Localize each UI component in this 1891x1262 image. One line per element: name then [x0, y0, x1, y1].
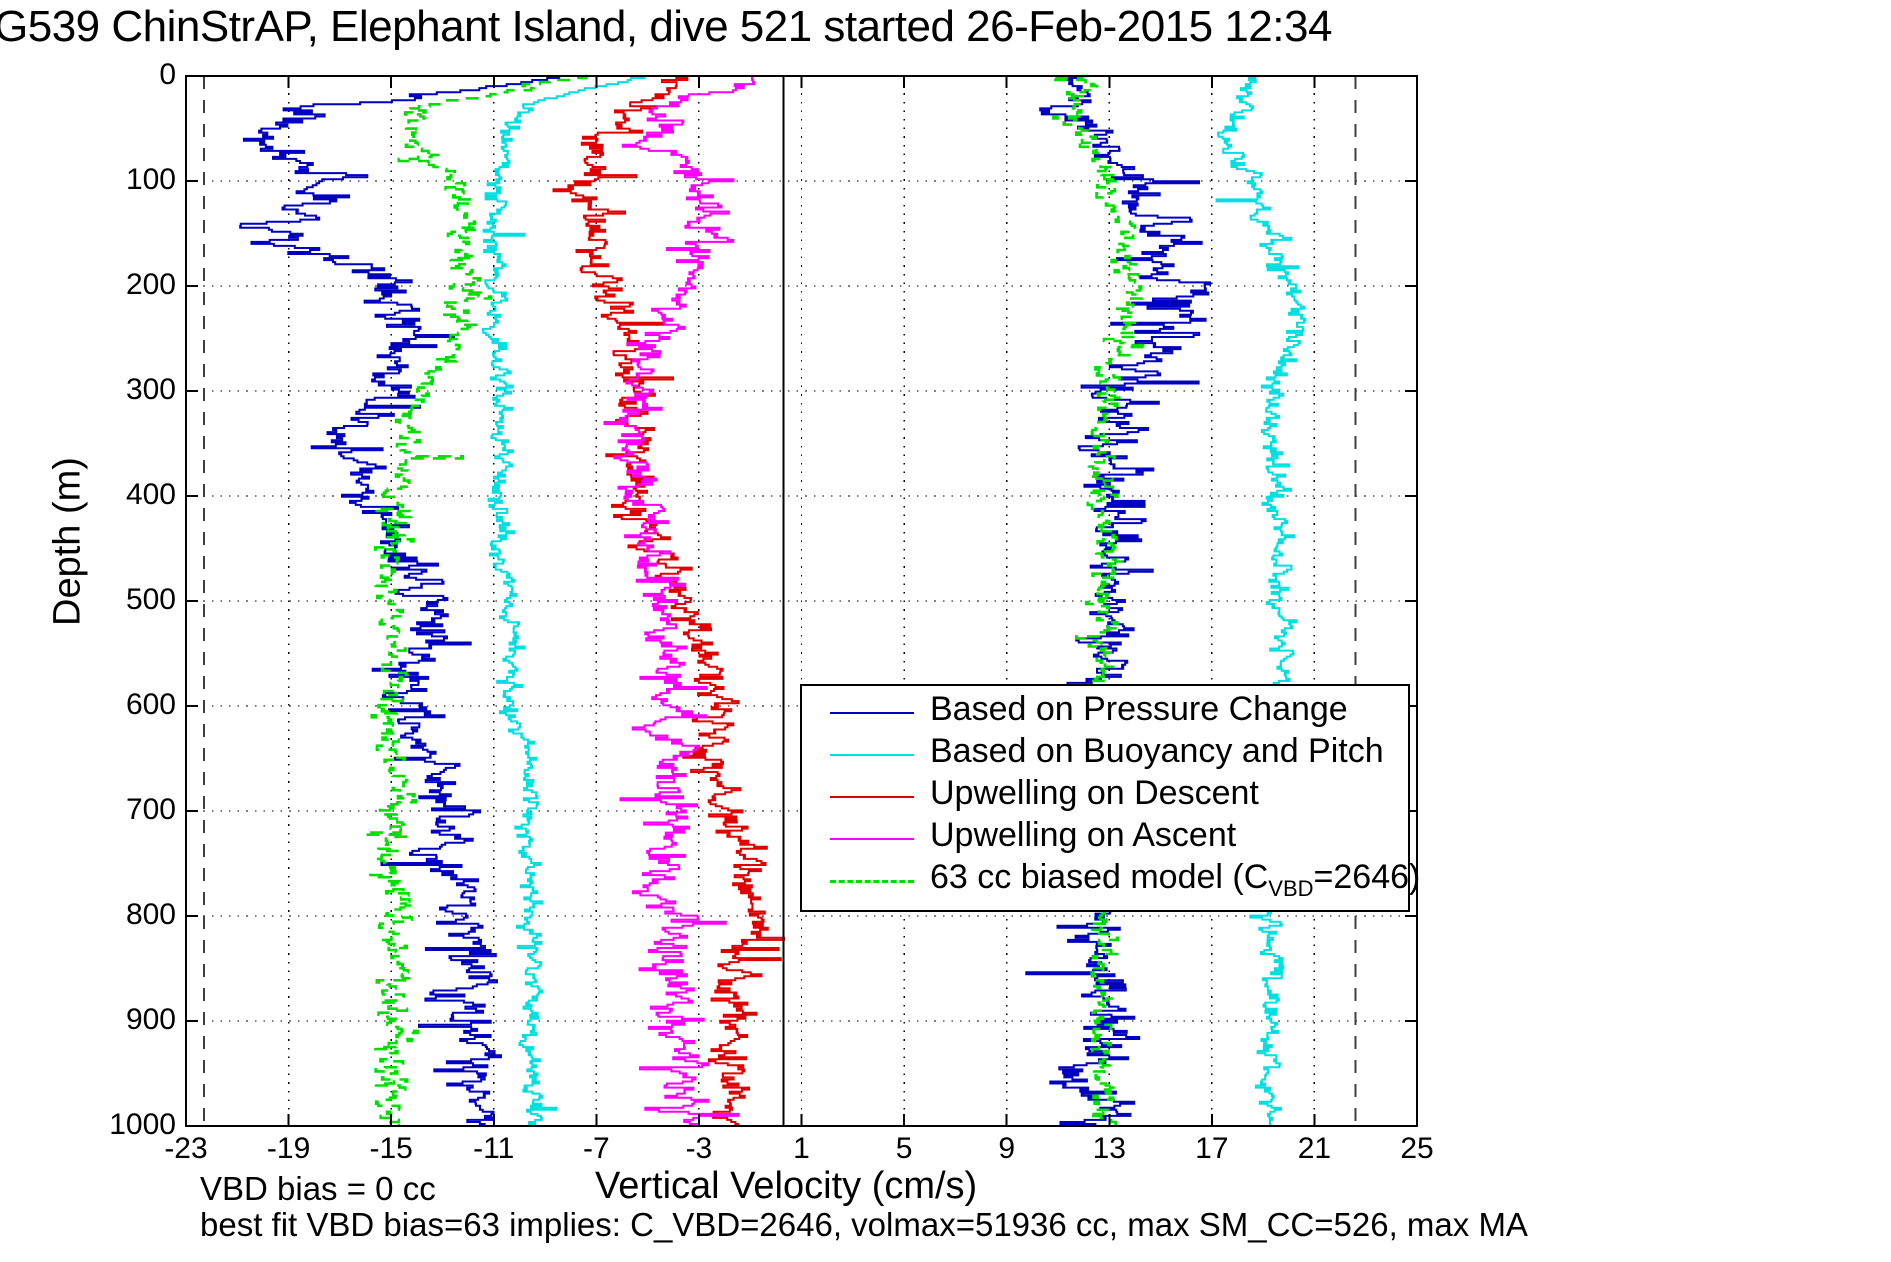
- legend-item-upwelling-ascent[interactable]: Upwelling on Ascent: [802, 818, 1408, 860]
- y-axis-label: Depth (m): [47, 412, 90, 672]
- legend-item-biased-model[interactable]: 63 cc biased model (CVBD=2646): [802, 860, 1408, 902]
- x-axis-tick-label: 25: [1357, 1132, 1477, 1166]
- best-fit-note: best fit VBD bias=63 implies: C_VBD=2646…: [200, 1206, 1528, 1244]
- x-axis-label: Vertical Velocity (cm/s): [595, 1165, 977, 1208]
- vbd-bias-note: VBD bias = 0 cc: [200, 1170, 436, 1208]
- legend-label: 63 cc biased model (CVBD=2646): [930, 858, 1420, 902]
- legend-box: Based on Pressure Change Based on Buoyan…: [800, 684, 1410, 912]
- legend-item-buoyancy[interactable]: Based on Buoyancy and Pitch: [802, 734, 1408, 776]
- legend-label: Upwelling on Descent: [930, 774, 1259, 813]
- legend-swatch-dashed-line: [830, 880, 914, 883]
- legend-item-pressure[interactable]: Based on Pressure Change: [802, 692, 1408, 734]
- legend-swatch-line: [830, 712, 914, 714]
- y-axis-tick-label: 100: [6, 163, 176, 197]
- y-axis-tick-label: 300: [6, 373, 176, 407]
- legend-label: Upwelling on Ascent: [930, 816, 1236, 855]
- plot-svg: [0, 0, 1891, 1262]
- y-axis-tick-label: 0: [6, 58, 176, 92]
- figure-root: G539 ChinStrAP, Elephant Island, dive 52…: [0, 0, 1891, 1262]
- legend-swatch-line: [830, 838, 914, 840]
- y-axis-tick-label: 500: [6, 583, 176, 617]
- legend-swatch-line: [830, 796, 914, 798]
- legend-item-upwelling-descent[interactable]: Upwelling on Descent: [802, 776, 1408, 818]
- legend-label: Based on Pressure Change: [930, 690, 1348, 729]
- y-axis-tick-label: 600: [6, 688, 176, 722]
- legend-swatch-line: [830, 754, 914, 756]
- y-axis-tick-label: 400: [6, 478, 176, 512]
- legend-label: Based on Buoyancy and Pitch: [930, 732, 1384, 771]
- legend-label-part1: 63 cc biased model (C: [930, 858, 1268, 896]
- y-axis-tick-label: 200: [6, 268, 176, 302]
- legend-label-subscript: VBD: [1268, 876, 1313, 901]
- legend-label-part2: =2646): [1314, 858, 1421, 896]
- y-axis-tick-label: 900: [6, 1003, 176, 1037]
- y-axis-tick-label: 800: [6, 898, 176, 932]
- series-based-on-pressure-change: [1020, 76, 1211, 1126]
- series-based-on-buoyancy-and-pitch: [1217, 76, 1306, 1126]
- plot-area: [0, 0, 1891, 1262]
- y-axis-tick-label: 700: [6, 793, 176, 827]
